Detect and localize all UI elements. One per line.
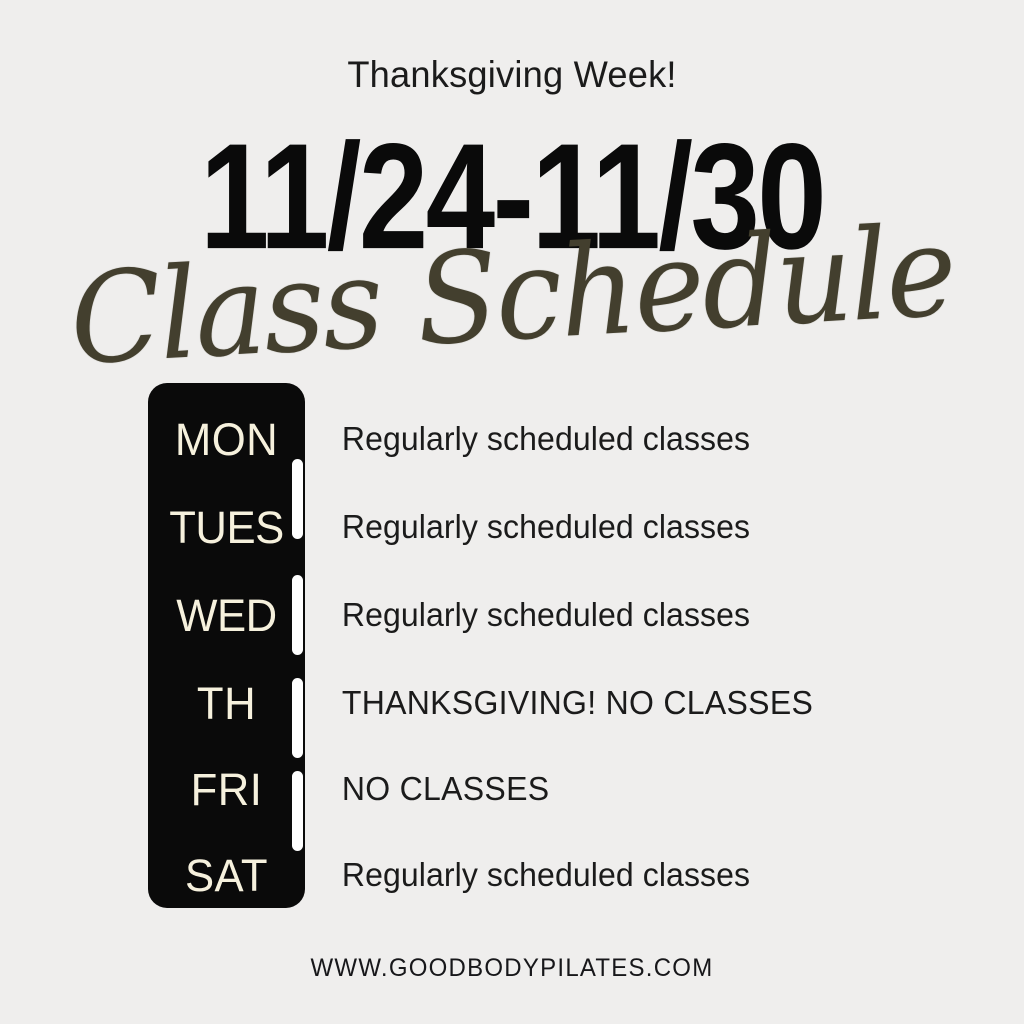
- day-description-wed: Regularly scheduled classes: [305, 598, 890, 633]
- day-description-fri: NO CLASSES: [305, 772, 890, 807]
- day-label-tues: TUES: [150, 505, 302, 550]
- date-range-headline: 11/24-11/30: [61, 122, 962, 273]
- schedule-row: MON Regularly scheduled classes: [148, 395, 908, 483]
- schedule-row: WED Regularly scheduled classes: [148, 571, 908, 659]
- footer-website-url: WWW.GOODBODYPILATES.COM: [20, 956, 1003, 981]
- row-separator-notch: [292, 575, 303, 655]
- class-schedule-poster: Thanksgiving Week! 11/24-11/30 Class Sch…: [0, 0, 1024, 1024]
- row-separator-notch: [292, 771, 303, 851]
- row-separator-notch: [292, 678, 303, 758]
- day-description-th: THANKSGIVING! NO CLASSES: [305, 686, 890, 721]
- schedule-block: MON Regularly scheduled classes TUES Reg…: [148, 383, 908, 908]
- day-description-tues: Regularly scheduled classes: [305, 510, 890, 545]
- row-separator-notch: [292, 459, 303, 539]
- day-label-mon: MON: [150, 417, 302, 462]
- schedule-row: TUES Regularly scheduled classes: [148, 483, 908, 571]
- schedule-row: SAT Regularly scheduled classes: [148, 831, 908, 919]
- day-label-fri: FRI: [150, 767, 302, 812]
- schedule-row: FRI NO CLASSES: [148, 745, 908, 833]
- day-description-mon: Regularly scheduled classes: [305, 422, 890, 457]
- schedule-rows: MON Regularly scheduled classes TUES Reg…: [148, 383, 908, 908]
- day-description-sat: Regularly scheduled classes: [305, 858, 890, 893]
- eyebrow-text: Thanksgiving Week!: [10, 56, 1014, 93]
- day-label-th: TH: [150, 681, 302, 726]
- day-label-wed: WED: [150, 593, 302, 638]
- schedule-row: TH THANKSGIVING! NO CLASSES: [148, 659, 908, 747]
- day-label-sat: SAT: [150, 853, 302, 898]
